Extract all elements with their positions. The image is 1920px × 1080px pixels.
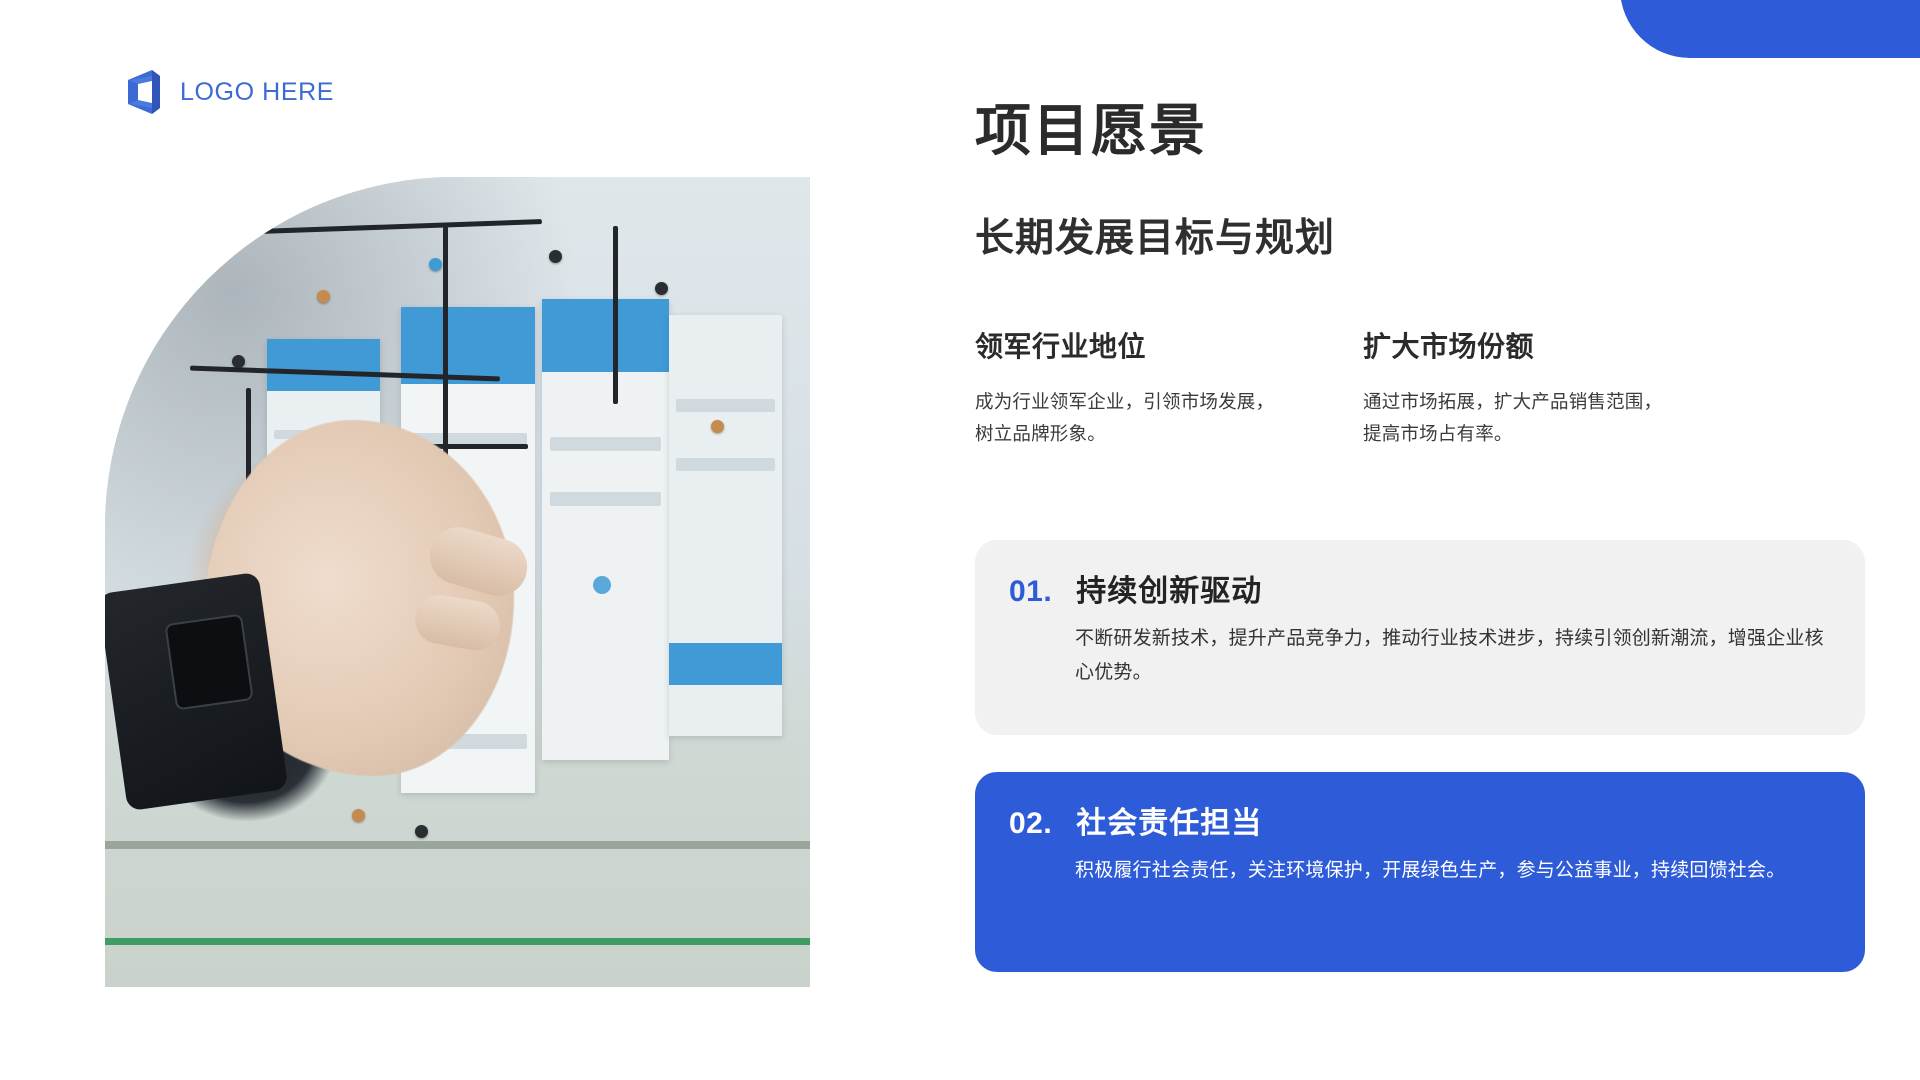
page-title: 项目愿景 [975, 100, 1207, 162]
photo-sheet [542, 299, 669, 761]
photo-sheet-line [550, 437, 662, 451]
feature-card-title: 持续创新驱动 [1076, 566, 1262, 610]
feature-card-number: 01. [1009, 575, 1052, 609]
photo-sheet [669, 315, 782, 736]
highlight-columns: 领军行业地位 成为行业领军企业，引领市场发展，树立品牌形象。 扩大市场份额 通过… [975, 330, 1865, 450]
highlight-title: 扩大市场份额 [1363, 330, 1673, 364]
feature-card-01[interactable]: 01. 持续创新驱动 不断研发新技术，提升产品竞争力，推动行业技术进步，持续引领… [975, 540, 1865, 735]
photo-sheet-header [669, 643, 782, 685]
photo-pin [415, 825, 428, 838]
photo-map-dot [593, 576, 611, 594]
hero-photo [105, 177, 810, 987]
photo-rail [105, 841, 810, 849]
photo-background [105, 177, 810, 987]
photo-wire [147, 219, 542, 238]
photo-watch [105, 572, 289, 811]
content-panel: 项目愿景 长期发展目标与规划 领军行业地位 成为行业领军企业，引领市场发展，树立… [975, 0, 1855, 1080]
highlight-body: 通过市场拓展，扩大产品销售范围，提高市场占有率。 [1363, 386, 1673, 451]
feature-card-body: 积极履行社会责任，关注环境保护，开展绿色生产，参与公益事业，持续回馈社会。 [1075, 854, 1831, 888]
photo-watch-face [164, 614, 254, 711]
photo-sheet-header [267, 339, 380, 391]
highlight-title: 领军行业地位 [975, 330, 1285, 364]
photo-pin [232, 355, 245, 368]
page-subtitle: 长期发展目标与规划 [975, 217, 1335, 262]
photo-wire [613, 226, 618, 404]
feature-card-body: 不断研发新技术，提升产品竞争力，推动行业技术进步，持续引领创新潮流，增强企业核心… [1075, 622, 1831, 690]
photo-sheet-line [676, 458, 775, 471]
feature-card-title: 社会责任担当 [1076, 798, 1262, 842]
photo-pin [317, 290, 330, 303]
photo-rail-green [105, 938, 810, 945]
feature-card-02[interactable]: 02. 社会责任担当 积极履行社会责任，关注环境保护，开展绿色生产，参与公益事业… [975, 772, 1865, 972]
logo-lockup: LOGO HERE [122, 68, 334, 116]
photo-pin [352, 809, 365, 822]
feature-card-header: 02. 社会责任担当 [1009, 798, 1831, 842]
highlight-column-1: 领军行业地位 成为行业领军企业，引领市场发展，树立品牌形象。 [975, 330, 1285, 450]
photo-pin [429, 258, 442, 271]
photo-pin [655, 282, 668, 295]
office-cube-icon [122, 68, 162, 116]
feature-card-header: 01. 持续创新驱动 [1009, 566, 1831, 610]
feature-card-number: 02. [1009, 807, 1052, 841]
photo-sheet-line [550, 492, 662, 506]
highlight-column-2: 扩大市场份额 通过市场拓展，扩大产品销售范围，提高市场占有率。 [1363, 330, 1673, 450]
highlight-body: 成为行业领军企业，引领市场发展，树立品牌形象。 [975, 386, 1285, 451]
photo-sheet-line [676, 399, 775, 412]
photo-sheet-header [542, 299, 669, 373]
logo-text: LOGO HERE [180, 78, 334, 107]
photo-pin [549, 250, 562, 263]
